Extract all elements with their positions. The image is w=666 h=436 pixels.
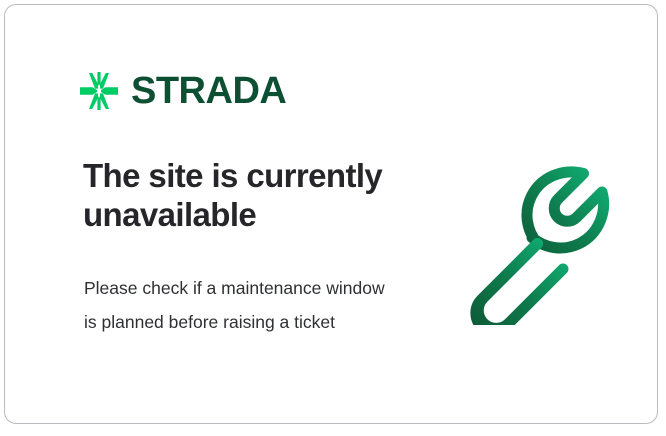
wrench-icon (457, 157, 625, 325)
error-page: STRADA The site is currently unavailable… (0, 0, 666, 436)
page-title: The site is currently unavailable (83, 157, 423, 234)
strada-asterisk-icon (79, 71, 119, 111)
status-card: STRADA The site is currently unavailable… (4, 4, 658, 424)
brand-wordmark: STRADA (131, 72, 286, 110)
page-description: Please check if a maintenance window is … (84, 271, 394, 339)
brand-lockup: STRADA (79, 71, 286, 111)
